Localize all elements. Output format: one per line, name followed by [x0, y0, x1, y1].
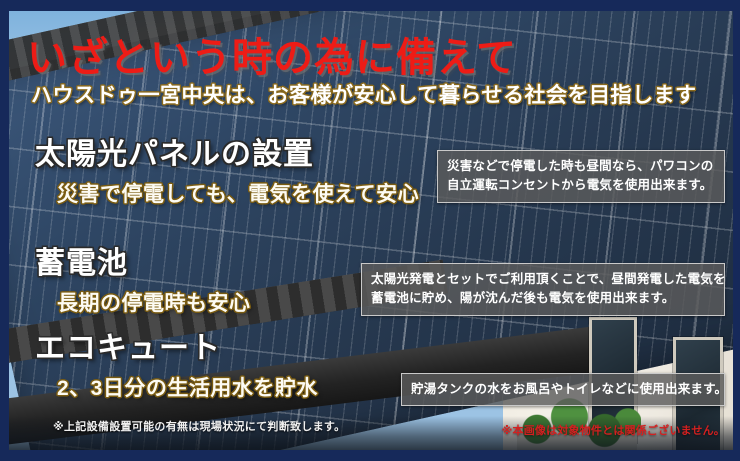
disclaimer-equipment: ※上記設備設置可能の有無は現場状況にて判断致します。 — [53, 418, 345, 434]
feature-subtitle: 2、3日分の生活用水を貯水 — [57, 372, 318, 402]
text-overlay: いざという時の為に備えて ハウスドゥ一宮中央は、お客様が安心して暮らせる社会を目… — [9, 11, 733, 450]
callout-storage-battery: 太陽光発電とセットでご利用頂くことで、昼間発電した電気を 蓄電池に貯め、陽が沈ん… — [361, 263, 725, 316]
callout-line: 蓄電池に貯め、陽が沈んだ後も電気を使用出来ます。 — [371, 289, 715, 308]
banner-headline: いざという時の為に備えて — [27, 25, 517, 83]
callout-ecocute: 貯湯タンクの水をお風呂やトイレなどに使用出来ます。 — [401, 373, 725, 406]
feature-subtitle: 長期の停電時も安心 — [57, 287, 251, 317]
callout-line: 太陽光発電とセットでご利用頂くことで、昼間発電した電気を — [371, 270, 715, 289]
feature-solar-panel: 太陽光パネルの設置 災害で停電しても、電気を使えて安心 — [35, 129, 419, 208]
feature-subtitle: 災害で停電しても、電気を使えて安心 — [57, 178, 419, 208]
feature-ecocute: エコキュート 2、3日分の生活用水を貯水 — [35, 323, 318, 402]
callout-solar-panel: 災害などで停電した時も昼間なら、パワコンの 自立運転コンセントから電気を使用出来… — [437, 150, 725, 203]
solar-feature-banner: いざという時の為に備えて ハウスドゥ一宮中央は、お客様が安心して暮らせる社会を目… — [0, 0, 740, 461]
feature-title: エコキュート — [35, 323, 318, 367]
feature-storage-battery: 蓄電池 長期の停電時も安心 — [35, 238, 251, 317]
banner-tagline: ハウスドゥ一宮中央は、お客様が安心して暮らせる社会を目指します — [31, 79, 696, 109]
callout-line: 自立運転コンセントから電気を使用出来ます。 — [447, 176, 715, 195]
feature-title: 蓄電池 — [35, 238, 251, 282]
callout-line: 貯湯タンクの水をお風呂やトイレなどに使用出来ます。 — [411, 380, 715, 399]
callout-line: 災害などで停電した時も昼間なら、パワコンの — [447, 157, 715, 176]
feature-title: 太陽光パネルの設置 — [35, 129, 419, 173]
disclaimer-image: ※本画像は対象物件とは関係ございません。 — [502, 422, 725, 438]
